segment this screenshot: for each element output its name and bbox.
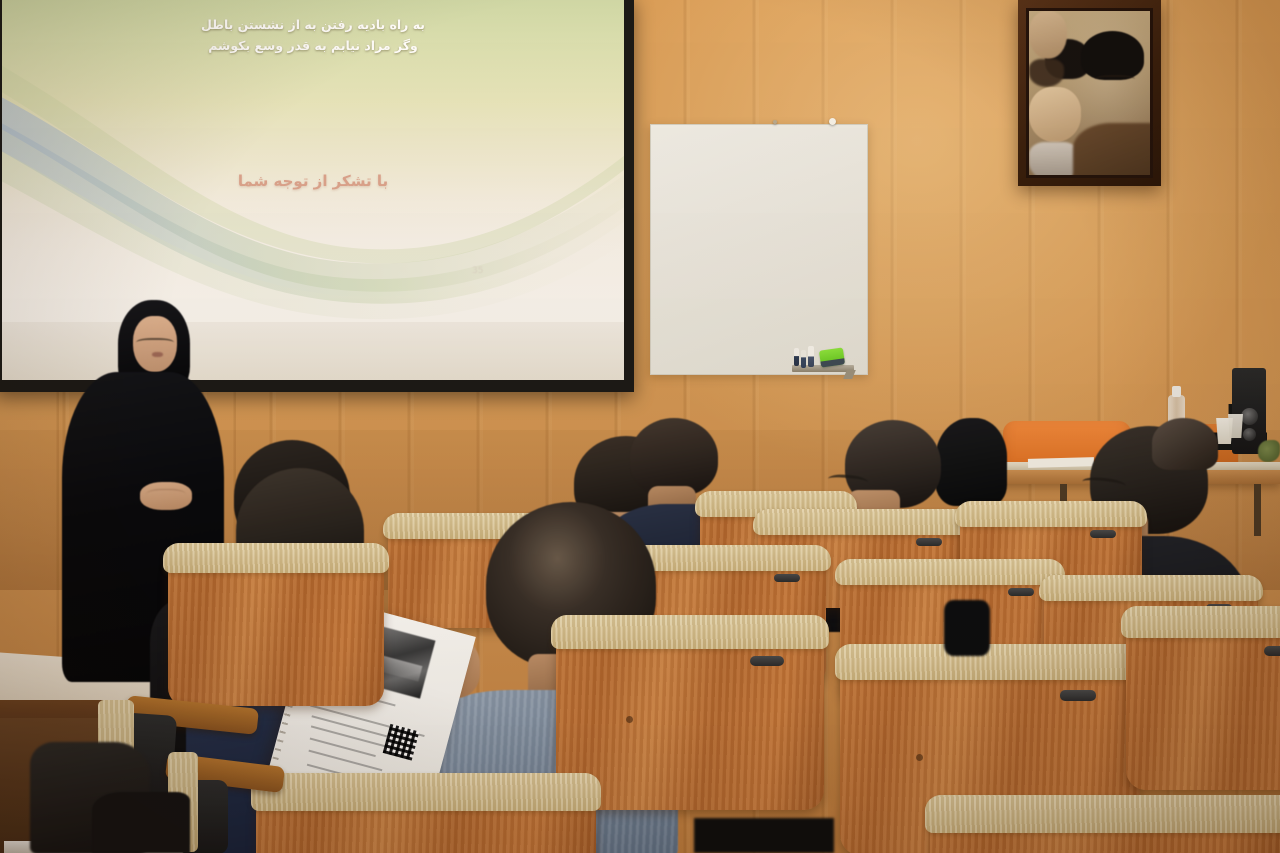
chair-handle-slot (1008, 588, 1034, 596)
chair-handle-slot (916, 538, 942, 546)
presenter-glasses (136, 338, 174, 349)
chair-top-pad (551, 615, 829, 649)
slide-thanks-text: با تشکر از توجه شما (2, 172, 624, 190)
attendee-chador (935, 418, 1007, 506)
chair-top-pad (251, 773, 601, 811)
whiteboard-marker (794, 348, 799, 366)
whiteboard-bracket-right (829, 118, 836, 125)
portrait-figure-glasses (1095, 75, 1135, 85)
foreground-shadow (944, 600, 990, 656)
conference-room-photo: به راه بادیه رفتن به از نشستن باطل وگر م… (0, 0, 1280, 853)
handout-qr-code (383, 724, 420, 761)
lecture-chair[interactable] (168, 556, 384, 706)
slide-verse: به راه بادیه رفتن به از نشستن باطل وگر م… (2, 14, 624, 56)
whiteboard-marker (801, 350, 806, 368)
chair-top-pad (955, 501, 1147, 527)
whiteboard-bracket-left (773, 120, 777, 124)
audio-speaker (1232, 368, 1266, 454)
portrait-figure-front-beard (1029, 142, 1079, 175)
chair-handle-slot (1090, 530, 1116, 538)
paper-cup (1227, 414, 1244, 438)
projection-screen: به راه بادیه رفتن به از نشستن باطل وگر م… (2, 0, 624, 380)
attendee-hair-highlight (1152, 418, 1218, 470)
foreground-shadow (694, 818, 834, 853)
slide-verse-line-1: به راه بادیه رفتن به از نشستن باطل (2, 14, 624, 35)
lecture-chair[interactable] (256, 790, 596, 853)
back-table-leg (1254, 484, 1261, 536)
chair-top-pad (753, 509, 973, 535)
whiteboard (650, 124, 868, 375)
lecture-chair[interactable] (930, 812, 1280, 853)
chair-top-pad (1039, 575, 1263, 601)
chair-handle-slot (1060, 690, 1096, 701)
portrait-figure-front-face (1029, 87, 1081, 142)
chair-top-pad (925, 795, 1280, 833)
chair-wood-grain (1126, 620, 1280, 790)
portrait-figure-front-turban (1081, 31, 1144, 80)
chair-handle-slot (774, 574, 800, 582)
framed-portrait (1018, 0, 1161, 186)
speaker-driver (1243, 428, 1256, 441)
chair-handle-slot (750, 656, 784, 666)
chair-wood-grain (168, 556, 384, 706)
lecture-chair[interactable] (1126, 620, 1280, 790)
portrait-figure-back-face (1029, 11, 1067, 59)
presenter-hand-detail (146, 489, 186, 502)
papers-on-table (1028, 457, 1094, 468)
chair-handle-slot (1264, 646, 1280, 656)
plant-decor (1258, 440, 1280, 462)
chair-top-pad (1121, 606, 1280, 638)
chair-top-pad (835, 644, 1145, 680)
portrait-image (1029, 11, 1150, 175)
portrait-figure-robe (1073, 123, 1150, 175)
slide-number: 35 (472, 266, 483, 276)
whiteboard-eraser (819, 347, 845, 367)
attendee-head (630, 418, 718, 496)
chair-fastener (626, 716, 633, 723)
presenter-mouth (152, 352, 163, 357)
projection-screen-frame: به راه بادیه رفتن به از نشستن باطل وگر م… (0, 0, 634, 392)
foreground-shadow (92, 792, 190, 853)
chair-top-pad (835, 559, 1065, 585)
slide-bottom-band (2, 322, 624, 380)
chair-fastener (916, 754, 923, 761)
speaker-driver (1241, 408, 1258, 425)
whiteboard-marker (808, 346, 814, 367)
portrait-figure-back-beard (1029, 59, 1064, 87)
slide-verse-line-2: وگر مراد نیابم به قدر وسع بکوشم (2, 35, 624, 56)
chair-top-pad (163, 543, 389, 573)
